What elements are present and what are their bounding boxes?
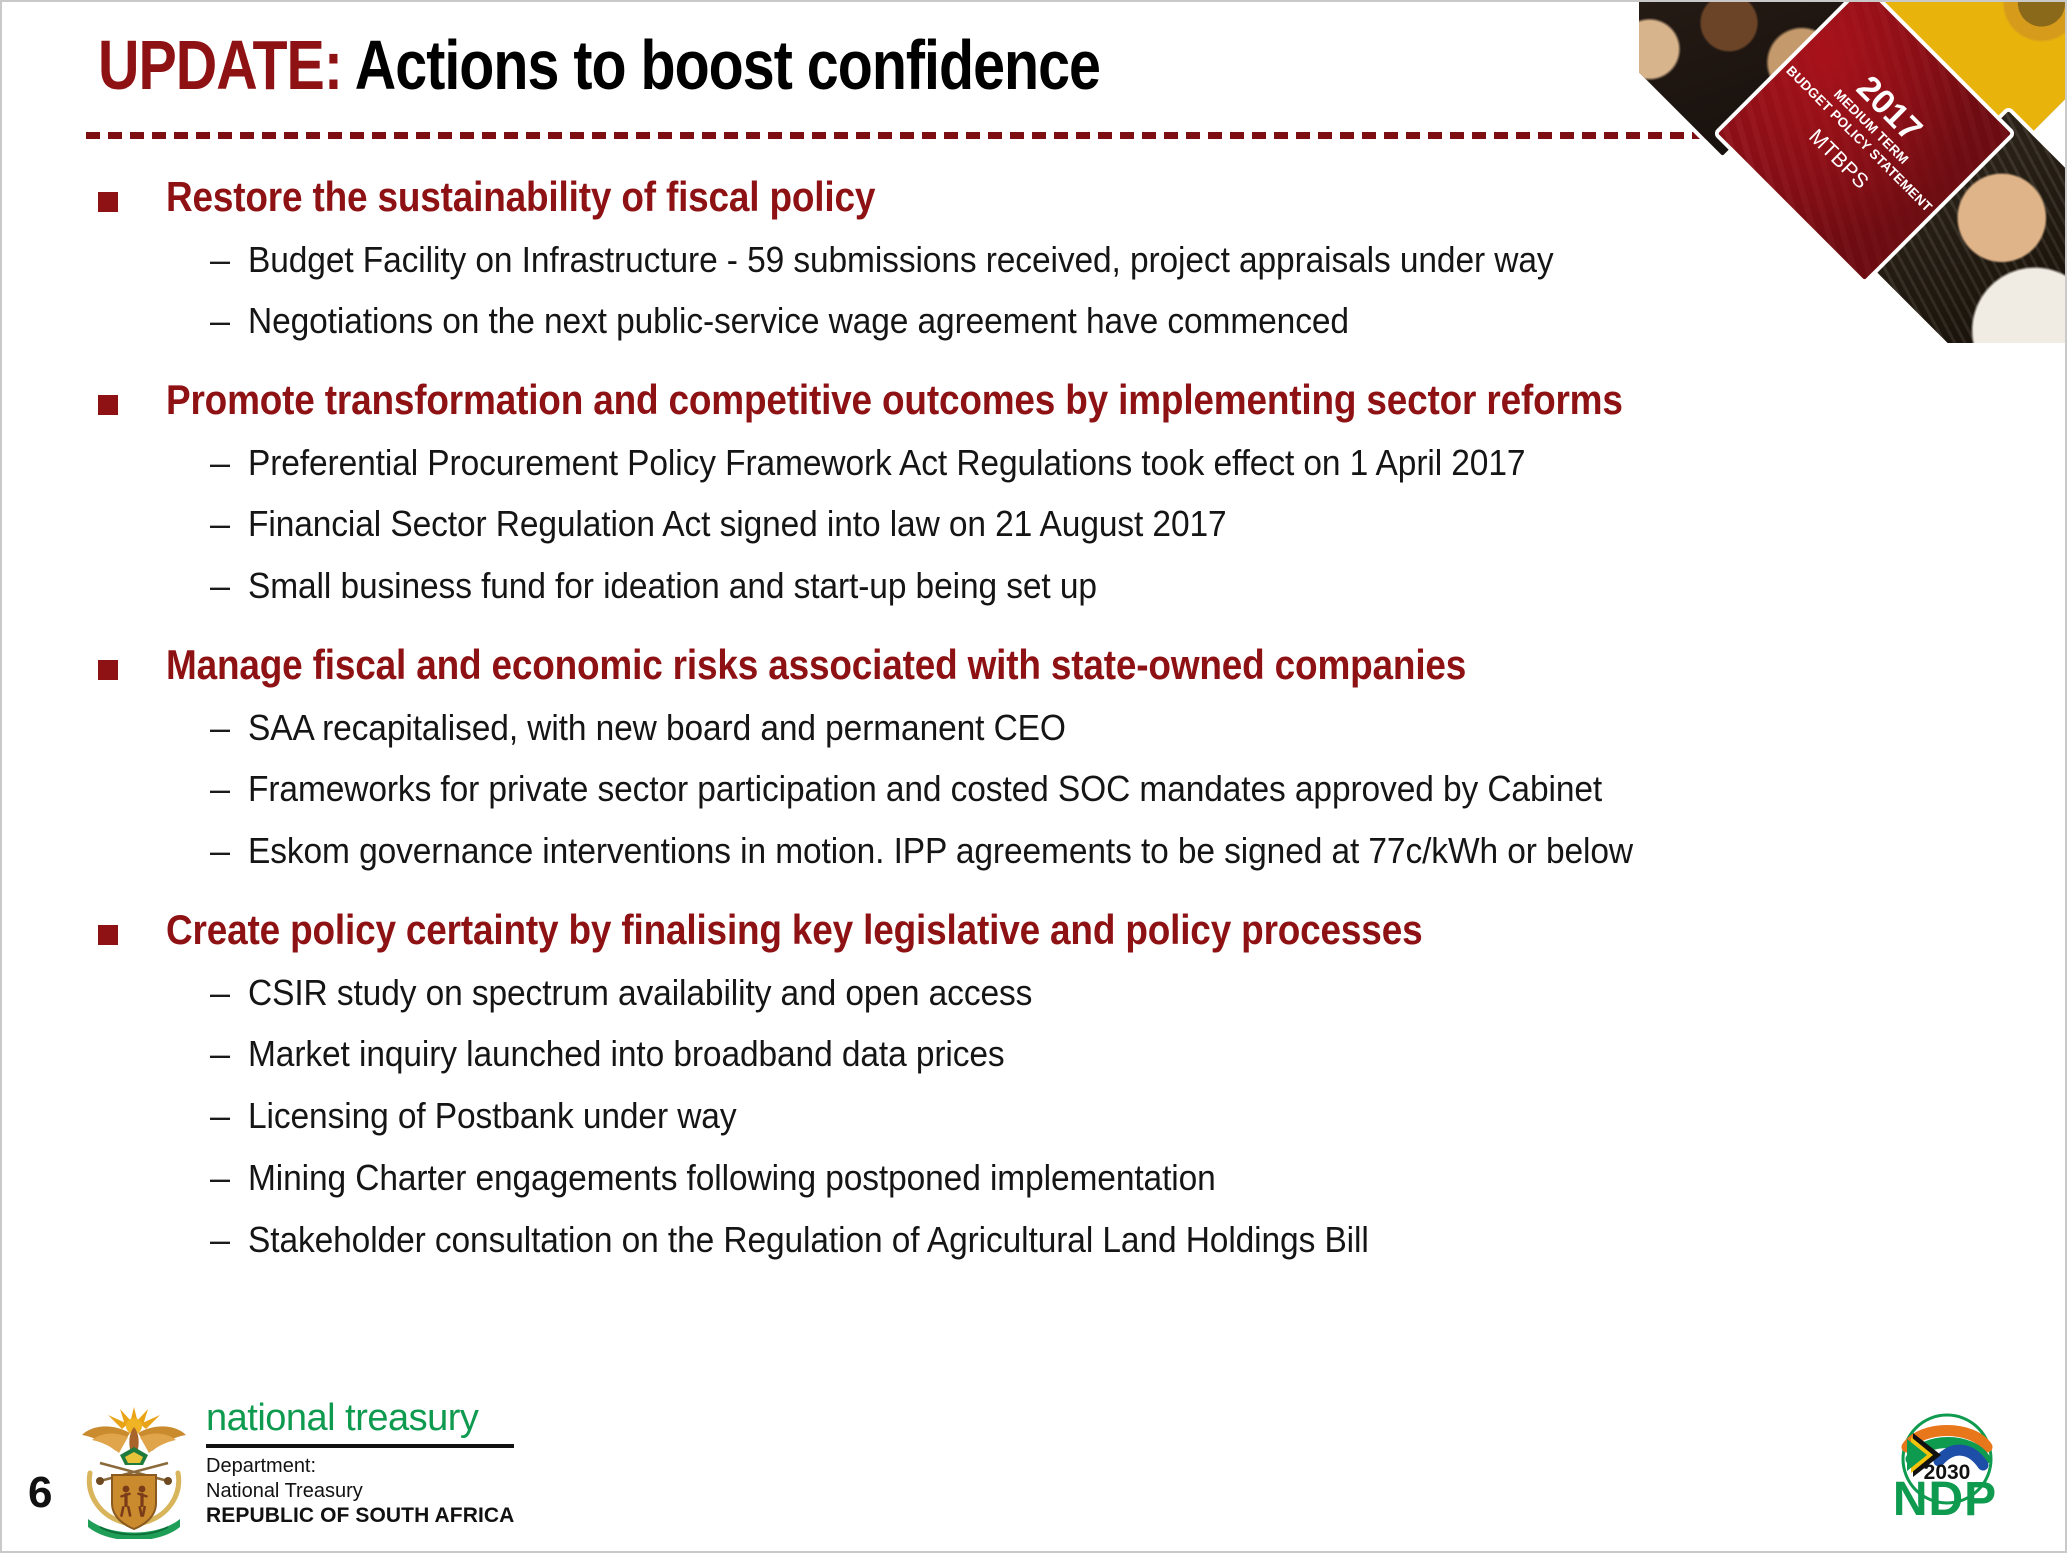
sub-bullet: – Negotiations on the next public-servic… (98, 293, 1998, 349)
dash-bullet-icon: – (210, 1212, 230, 1268)
dash-bullet-icon: – (210, 965, 230, 1021)
bullet-heading-label: Promote transformation and competitive o… (166, 375, 1623, 425)
badge-year: 2017 (1803, 23, 1975, 195)
dash-bullet-icon: – (210, 1088, 230, 1144)
sub-bullet-label: Mining Charter engagements following pos… (248, 1150, 1216, 1206)
treasury-sub: National Treasury (206, 1479, 514, 1503)
square-bullet-icon (98, 660, 118, 680)
bullet-heading: Manage fiscal and economic risks associa… (98, 640, 1998, 690)
dash-bullet-icon: – (210, 823, 230, 879)
page-title: UPDATE: Actions to boost confidence (98, 30, 1492, 100)
dash-bullet-icon: – (210, 496, 230, 552)
sub-bullet-label: Budget Facility on Infrastructure - 59 s… (248, 232, 1554, 288)
square-bullet-icon (98, 395, 118, 415)
sub-bullet-label: Frameworks for private sector participat… (248, 761, 1602, 817)
dash-bullet-icon: – (210, 1150, 230, 1206)
sub-bullet-label: Stakeholder consultation on the Regulati… (248, 1212, 1369, 1268)
square-bullet-icon (98, 925, 118, 945)
page-title-highlight: UPDATE: (98, 26, 342, 104)
dash-bullet-icon: – (210, 558, 230, 614)
sub-bullet: – Financial Sector Regulation Act signed… (98, 496, 1998, 552)
sub-bullet: – Market inquiry launched into broadband… (98, 1026, 1998, 1082)
sub-bullet-label: CSIR study on spectrum availability and … (248, 965, 1032, 1021)
bullet-group: Promote transformation and competitive o… (98, 375, 1998, 614)
title-block: UPDATE: Actions to boost confidence (98, 30, 1798, 100)
sub-bullet: – Preferential Procurement Policy Framew… (98, 435, 1998, 491)
sub-bullet-label: Preferential Procurement Policy Framewor… (248, 435, 1525, 491)
sub-bullet-label: Financial Sector Regulation Act signed i… (248, 496, 1227, 552)
page-title-rest: Actions to boost confidence (342, 26, 1100, 104)
bullet-heading-label: Create policy certainty by finalising ke… (166, 905, 1422, 955)
sub-bullet-label: Licensing of Postbank under way (248, 1088, 736, 1144)
dash-bullet-icon: – (210, 700, 230, 756)
treasury-name: national treasury (206, 1399, 514, 1441)
treasury-dept: Department: (206, 1454, 514, 1478)
sub-bullet: – Frameworks for private sector particip… (98, 761, 1998, 817)
sub-bullet: – Budget Facility on Infrastructure - 59… (98, 232, 1998, 288)
sub-bullet: – Stakeholder consultation on the Regula… (98, 1212, 1998, 1268)
sub-bullet: – Small business fund for ideation and s… (98, 558, 1998, 614)
sub-bullet: – Eskom governance interventions in moti… (98, 823, 1998, 879)
sub-bullet-label: Market inquiry launched into broadband d… (248, 1026, 1005, 1082)
sub-bullet: – Licensing of Postbank under way (98, 1088, 1998, 1144)
sub-bullet-label: SAA recapitalised, with new board and pe… (248, 700, 1066, 756)
bullet-heading-label: Restore the sustainability of fiscal pol… (166, 172, 875, 222)
treasury-rule (206, 1444, 514, 1448)
bullet-heading: Restore the sustainability of fiscal pol… (98, 172, 1998, 222)
bullet-group: Create policy certainty by finalising ke… (98, 905, 1998, 1268)
dash-bullet-icon: – (210, 293, 230, 349)
national-treasury-logo: national treasury Department: National T… (74, 1389, 514, 1539)
bullet-heading: Promote transformation and competitive o… (98, 375, 1998, 425)
title-divider (86, 132, 1776, 139)
ndp-2030-logo: 2030 NDP (1867, 1403, 2027, 1523)
slide-number: 6 (28, 1471, 52, 1515)
bullet-heading-label: Manage fiscal and economic risks associa… (166, 640, 1466, 690)
sunflower-photo-tile (1856, 0, 2067, 162)
bullet-group: Manage fiscal and economic risks associa… (98, 640, 1998, 879)
bullet-group: Restore the sustainability of fiscal pol… (98, 172, 1998, 349)
sub-bullet: – Mining Charter engagements following p… (98, 1150, 1998, 1206)
sub-bullet: – CSIR study on spectrum availability an… (98, 965, 1998, 1021)
sub-bullet: – SAA recapitalised, with new board and … (98, 700, 1998, 756)
sub-bullet-label: Negotiations on the next public-service … (248, 293, 1349, 349)
dash-bullet-icon: – (210, 1026, 230, 1082)
dash-bullet-icon: – (210, 761, 230, 817)
treasury-wordmark: national treasury Department: National T… (206, 1399, 514, 1528)
coat-of-arms-icon (74, 1389, 194, 1539)
dash-bullet-icon: – (210, 232, 230, 288)
svg-text:NDP: NDP (1893, 1473, 1997, 1523)
sub-bullet-label: Small business fund for ideation and sta… (248, 558, 1097, 614)
sub-bullet-label: Eskom governance interventions in motion… (248, 823, 1633, 879)
slide: UPDATE: Actions to boost confidence Rest… (0, 0, 2067, 1553)
dash-bullet-icon: – (210, 435, 230, 491)
bullet-content: Restore the sustainability of fiscal pol… (98, 172, 1998, 1274)
treasury-country: REPUBLIC OF SOUTH AFRICA (206, 1503, 514, 1529)
bullet-heading: Create policy certainty by finalising ke… (98, 905, 1998, 955)
square-bullet-icon (98, 192, 118, 212)
